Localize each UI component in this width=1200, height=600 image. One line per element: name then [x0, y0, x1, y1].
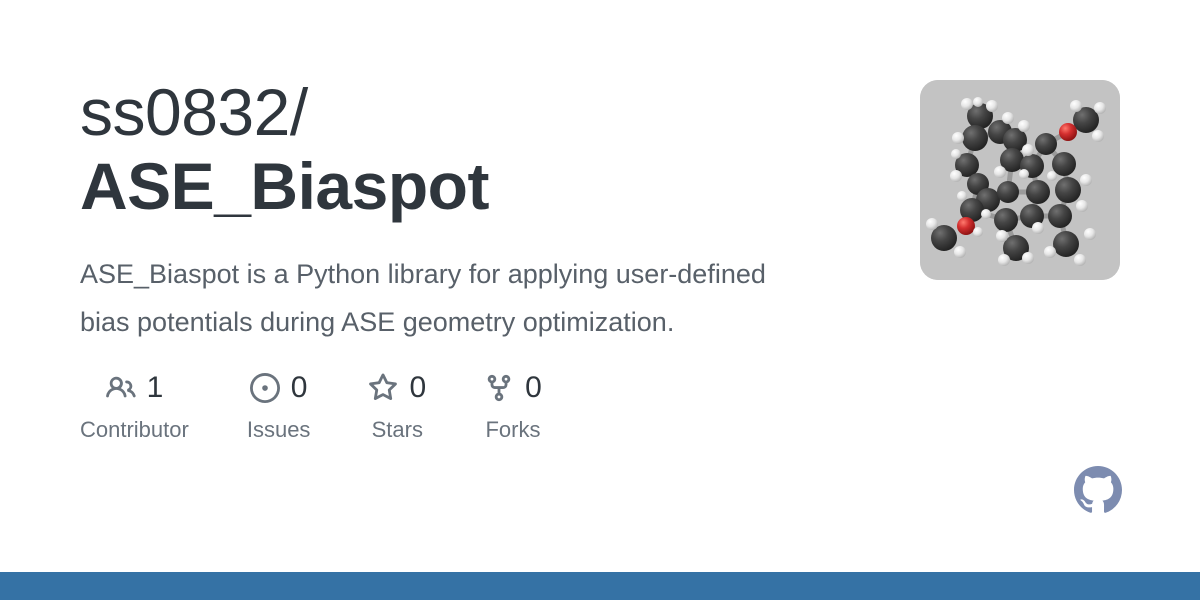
stat-issues-label: Issues — [247, 418, 311, 442]
repository-info: ss0832/ASE_Biaspot ASE_Biaspot is a Pyth… — [80, 76, 870, 442]
stat-forks-value: 0 — [525, 373, 542, 403]
star-icon — [368, 373, 398, 403]
people-icon — [106, 373, 136, 403]
stat-contributors[interactable]: 1 Contributor — [80, 370, 189, 442]
stat-stars[interactable]: 0 Stars — [368, 370, 426, 442]
stat-forks-top: 0 — [484, 370, 542, 406]
stat-issues[interactable]: 0 Issues — [247, 370, 311, 442]
stat-issues-value: 0 — [291, 373, 308, 403]
issue-opened-icon — [250, 373, 280, 403]
stat-contributors-value: 1 — [147, 373, 164, 403]
repo-forked-icon — [484, 373, 514, 403]
stat-issues-top: 0 — [250, 370, 308, 406]
page-title: ss0832/ASE_Biaspot — [80, 76, 870, 224]
repository-social-preview-card: ss0832/ASE_Biaspot ASE_Biaspot is a Pyth… — [0, 0, 1200, 600]
molecule-structure-image — [920, 80, 1120, 280]
repository-owner: ss0832/ — [80, 75, 308, 149]
stat-forks-label: Forks — [485, 418, 540, 442]
repository-stats: 1 Contributor 0 Issues — [80, 370, 870, 442]
stat-stars-value: 0 — [409, 373, 426, 403]
stat-contributors-top: 1 — [106, 370, 164, 406]
repository-name: ASE_Biaspot — [80, 149, 489, 223]
stat-contributors-label: Contributor — [80, 418, 189, 442]
language-color-bar — [0, 572, 1200, 600]
stat-stars-top: 0 — [368, 370, 426, 406]
stat-forks[interactable]: 0 Forks — [484, 370, 542, 442]
github-octocat-icon — [1074, 466, 1122, 514]
stat-stars-label: Stars — [372, 418, 423, 442]
repository-description: ASE_Biaspot is a Python library for appl… — [80, 250, 820, 346]
